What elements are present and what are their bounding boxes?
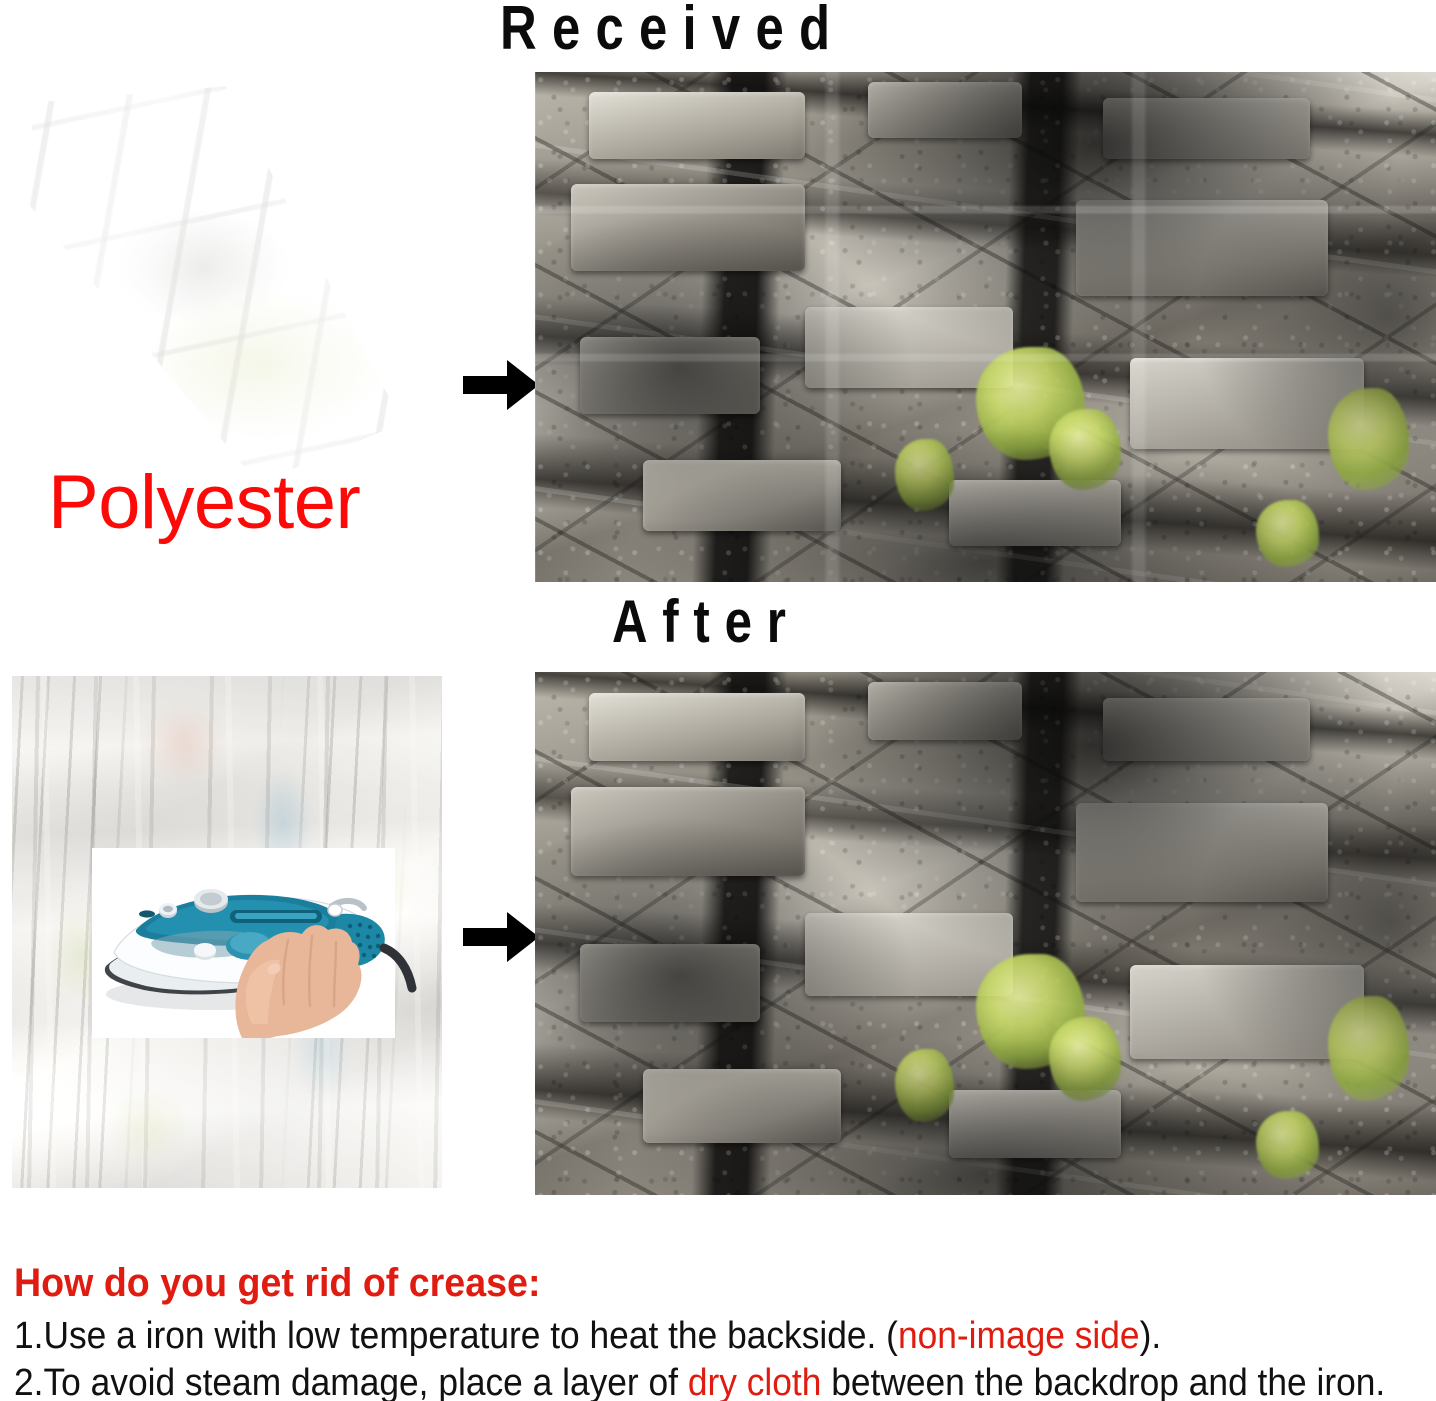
- product-infographic: Polyester Received: [0, 0, 1436, 1401]
- instruction-2-highlight: dry cloth: [688, 1362, 822, 1401]
- instruction-2-before: 2.To avoid steam damage, place a layer o…: [14, 1362, 688, 1401]
- instructions-block: How do you get rid of crease: 1.Use a ir…: [14, 1258, 1424, 1401]
- instruction-1-before: 1.Use a iron with low temperature to hea…: [14, 1315, 898, 1357]
- received-backdrop-image: [535, 72, 1436, 582]
- rock-texture: [535, 672, 1436, 1195]
- instruction-line-2: 2.To avoid steam damage, place a layer o…: [14, 1361, 1325, 1401]
- after-backdrop-image: [535, 672, 1436, 1195]
- arrow-right-icon: [461, 908, 541, 966]
- iron-and-hand-image: [92, 848, 395, 1038]
- received-title: Received: [500, 0, 845, 60]
- arrow-right-icon: [461, 356, 541, 414]
- instruction-1-after: ).: [1140, 1315, 1162, 1357]
- polyester-label: Polyester: [48, 462, 360, 544]
- after-title: After: [612, 592, 801, 652]
- fabric-sheen: [18, 78, 418, 488]
- instruction-1-highlight: non-image side: [898, 1315, 1140, 1357]
- instruction-2-after: between the backdrop and the iron.: [821, 1362, 1385, 1401]
- folded-fabric-image: [18, 78, 418, 488]
- rock-texture: [535, 72, 1436, 582]
- instruction-line-1: 1.Use a iron with low temperature to hea…: [14, 1314, 1325, 1358]
- instructions-heading: How do you get rid of crease:: [14, 1258, 1339, 1308]
